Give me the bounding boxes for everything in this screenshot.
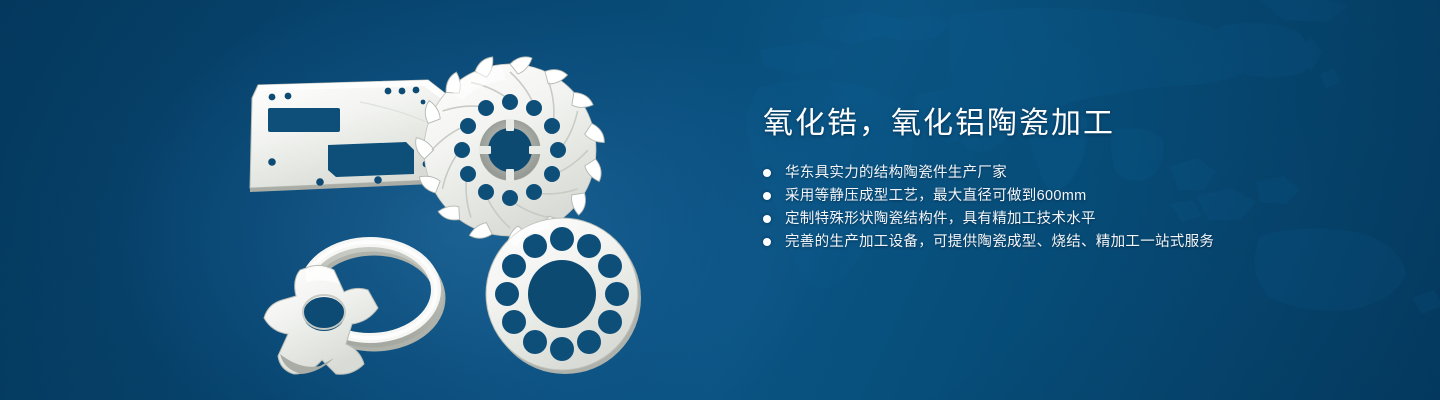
bullet-dot-icon xyxy=(763,215,771,223)
list-item: 完善的生产加工设备，可提供陶瓷成型、烧结、精加工一站式服务 xyxy=(763,235,1383,249)
list-item: 华东具实力的结构陶瓷件生产厂家 xyxy=(763,166,1383,180)
feature-text: 完善的生产加工设备，可提供陶瓷成型、烧结、精加工一站式服务 xyxy=(785,234,1214,250)
ceramic-perforated-ring-disc xyxy=(486,218,641,374)
feature-text: 定制特殊形状陶瓷结构件，具有精加工技术水平 xyxy=(785,211,1096,227)
page-title: 氧化锆，氧化铝陶瓷加工 xyxy=(763,104,1383,144)
bullet-dot-icon xyxy=(763,192,771,200)
ceramic-vaned-impeller-disc xyxy=(415,56,605,246)
banner-copy: 氧化锆，氧化铝陶瓷加工 华东具实力的结构陶瓷件生产厂家 采用等静压成型工艺，最大… xyxy=(763,104,1383,249)
ceramic-cross-shaped-plate xyxy=(264,265,378,374)
bullet-dot-icon xyxy=(763,169,771,177)
ceramic-machined-plate xyxy=(250,80,446,192)
list-item: 采用等静压成型工艺，最大直径可做到600mm xyxy=(763,189,1383,203)
promo-banner: 氧化锆，氧化铝陶瓷加工 华东具实力的结构陶瓷件生产厂家 采用等静压成型工艺，最大… xyxy=(0,0,1440,400)
feature-text: 华东具实力的结构陶瓷件生产厂家 xyxy=(785,165,1007,181)
feature-list: 华东具实力的结构陶瓷件生产厂家 采用等静压成型工艺，最大直径可做到600mm 定… xyxy=(763,166,1383,249)
bullet-dot-icon xyxy=(763,238,771,246)
product-photo-group xyxy=(210,40,680,380)
feature-text: 采用等静压成型工艺，最大直径可做到600mm xyxy=(785,188,1086,204)
list-item: 定制特殊形状陶瓷结构件，具有精加工技术水平 xyxy=(763,212,1383,226)
